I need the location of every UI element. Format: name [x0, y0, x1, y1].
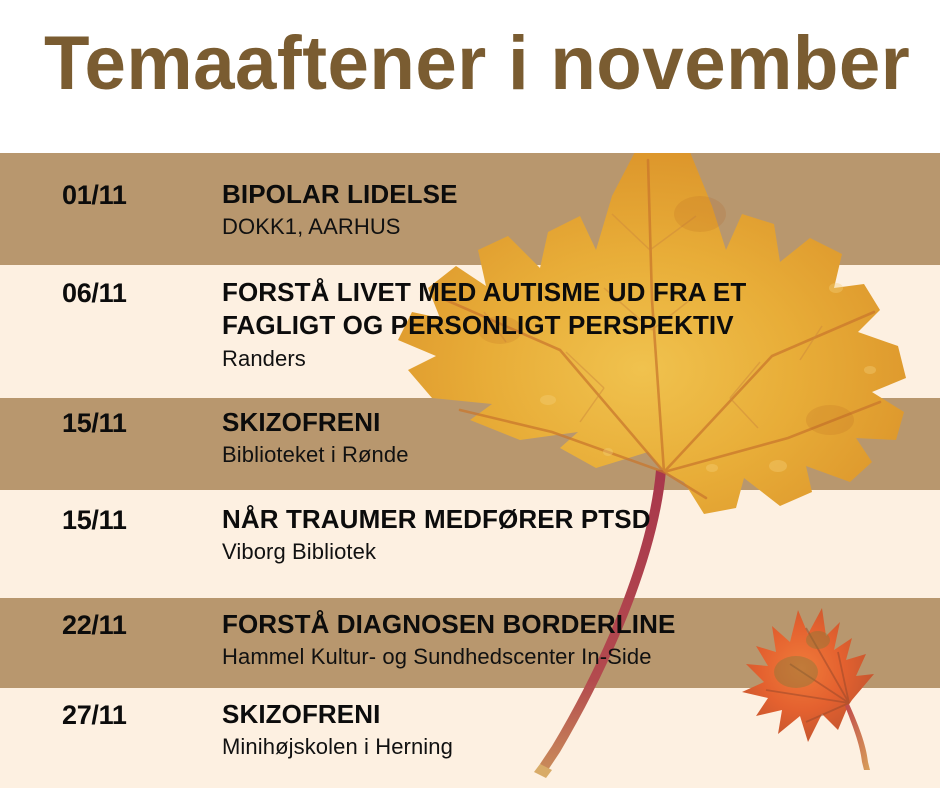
- event-row: SKIZOFRENIBiblioteket i Rønde: [222, 406, 932, 470]
- event-venue: Biblioteket i Rønde: [222, 441, 932, 470]
- event-date: 27/11: [62, 700, 212, 731]
- event-venue: Viborg Bibliotek: [222, 538, 932, 567]
- event-venue: Hammel Kultur- og Sundhedscenter In-Side: [222, 643, 932, 672]
- event-title: FORSTÅ LIVET MED AUTISME UD FRA ET FAGLI…: [222, 276, 932, 343]
- event-date: 06/11: [62, 278, 212, 309]
- event-row: SKIZOFRENIMinihøjskolen i Herning: [222, 698, 932, 762]
- event-row: NÅR TRAUMER MEDFØRER PTSDViborg Bibliote…: [222, 503, 932, 567]
- event-date: 01/11: [62, 180, 212, 211]
- event-date: 15/11: [62, 408, 212, 439]
- event-row: FORSTÅ LIVET MED AUTISME UD FRA ET FAGLI…: [222, 276, 932, 373]
- event-row: BIPOLAR LIDELSEDOKK1, AARHUS: [222, 178, 932, 242]
- page-title: Temaaftener i november: [44, 26, 897, 102]
- event-title: NÅR TRAUMER MEDFØRER PTSD: [222, 503, 932, 536]
- event-date: 15/11: [62, 505, 212, 536]
- event-title: SKIZOFRENI: [222, 406, 932, 439]
- header-area: Temaaftener i november: [0, 0, 940, 153]
- event-title: BIPOLAR LIDELSE: [222, 178, 932, 211]
- event-row: FORSTÅ DIAGNOSEN BORDERLINEHammel Kultur…: [222, 608, 932, 672]
- poster-root: Temaaftener i november 01/11BIPOLAR LIDE…: [0, 0, 940, 788]
- event-title: SKIZOFRENI: [222, 698, 932, 731]
- event-venue: Minihøjskolen i Herning: [222, 733, 932, 762]
- event-venue: DOKK1, AARHUS: [222, 213, 932, 242]
- event-title: FORSTÅ DIAGNOSEN BORDERLINE: [222, 608, 932, 641]
- event-date: 22/11: [62, 610, 212, 641]
- event-venue: Randers: [222, 345, 932, 374]
